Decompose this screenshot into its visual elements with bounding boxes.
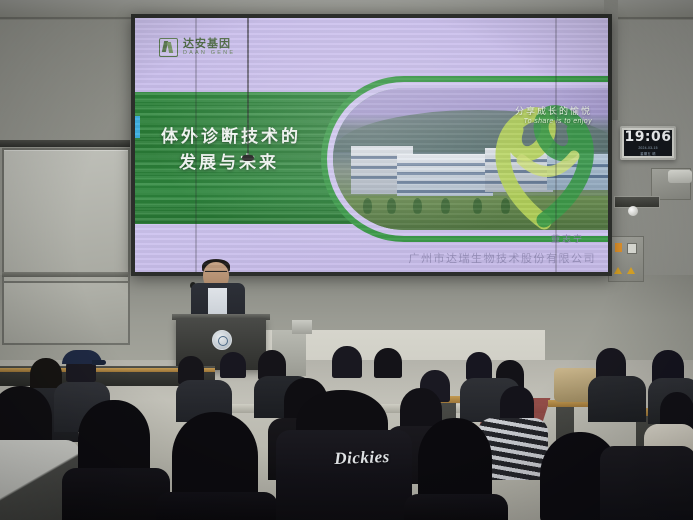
brand-name-cn: 达安基因 (183, 39, 235, 51)
audience-body (62, 468, 170, 520)
tree (473, 198, 482, 214)
tree (387, 198, 396, 214)
glasses-icon (205, 271, 227, 276)
audience-head (418, 418, 492, 504)
indicator-light (615, 243, 622, 252)
cap-brim (92, 360, 106, 365)
clock-time: 19:06 (624, 130, 671, 144)
tree (363, 198, 372, 214)
hanging-cable (247, 18, 249, 158)
university-emblem-icon (212, 330, 232, 350)
brand-mark-icon (159, 38, 178, 57)
lecture-hall-scene: 19:06 2024-03-15 星期五 晴 (0, 0, 693, 520)
audience-head (172, 412, 258, 504)
whiteboard-upper (2, 148, 130, 284)
clock-date: 2024-03-15 (638, 146, 657, 150)
screen-panel-seam (195, 18, 197, 272)
wall-vent (614, 196, 660, 208)
whiteboard-lower (2, 281, 130, 345)
audience-head (374, 348, 402, 378)
clock-weekday: 星期五 晴 (640, 152, 656, 156)
audience-body (600, 446, 693, 520)
sensor-icon (628, 206, 638, 216)
warning-triangle-icon (627, 267, 635, 274)
electrical-junction-box (608, 236, 644, 282)
audience-jacket (276, 430, 412, 520)
audience-head (78, 400, 150, 478)
audience-body (404, 494, 508, 520)
audience-head (332, 346, 362, 378)
audience-head (466, 352, 492, 380)
slide-company-name: 广州市达瑞生物技术股份有限公司 (409, 250, 597, 266)
screen-panel-seam (555, 18, 557, 272)
hanging-mic-icon (242, 155, 254, 161)
daan-gene-logo: 达安基因 DAAN GENE (159, 38, 235, 57)
brand-name-en: DAAN GENE (183, 50, 235, 56)
audience-head (220, 352, 246, 378)
audience-body (588, 376, 646, 422)
slide-slogan: 分享成长的愉悦 To share is to enjoy (515, 104, 592, 125)
whiteboard-top-trim (0, 140, 130, 147)
tree (413, 198, 422, 214)
tree (441, 198, 450, 214)
switch-icon[interactable] (627, 243, 637, 254)
digital-wall-clock: 19:06 2024-03-15 星期五 晴 (620, 126, 676, 160)
clock-display: 19:06 2024-03-15 星期五 晴 (624, 130, 672, 156)
audience-head (500, 386, 534, 422)
side-monitor (292, 320, 312, 334)
projection-screen: 分享成长的愉悦 To share is to enjoy 达安基因 DAAN G… (131, 14, 612, 276)
camera-icon (668, 170, 692, 183)
slogan-english: To share is to enjoy (515, 118, 592, 125)
slide-title: 体外诊断技术的 发展与未来 (161, 124, 301, 177)
warning-triangle-icon (614, 267, 622, 274)
whiteboard-marker-rail (2, 272, 128, 277)
jacket-brand-text: Dickies (312, 446, 413, 469)
slide-title-line1: 体外诊断技术的 (161, 124, 301, 150)
brand-text: 达安基因 DAAN GENE (183, 39, 235, 57)
slide-title-line2: 发展与未来 (179, 150, 301, 176)
slogan-chinese: 分享成长的愉悦 (515, 104, 592, 117)
slide-accent-tab (135, 116, 140, 138)
audience-body (156, 492, 278, 520)
presentation-slide: 分享成长的愉悦 To share is to enjoy 达安基因 DAAN G… (135, 18, 608, 272)
